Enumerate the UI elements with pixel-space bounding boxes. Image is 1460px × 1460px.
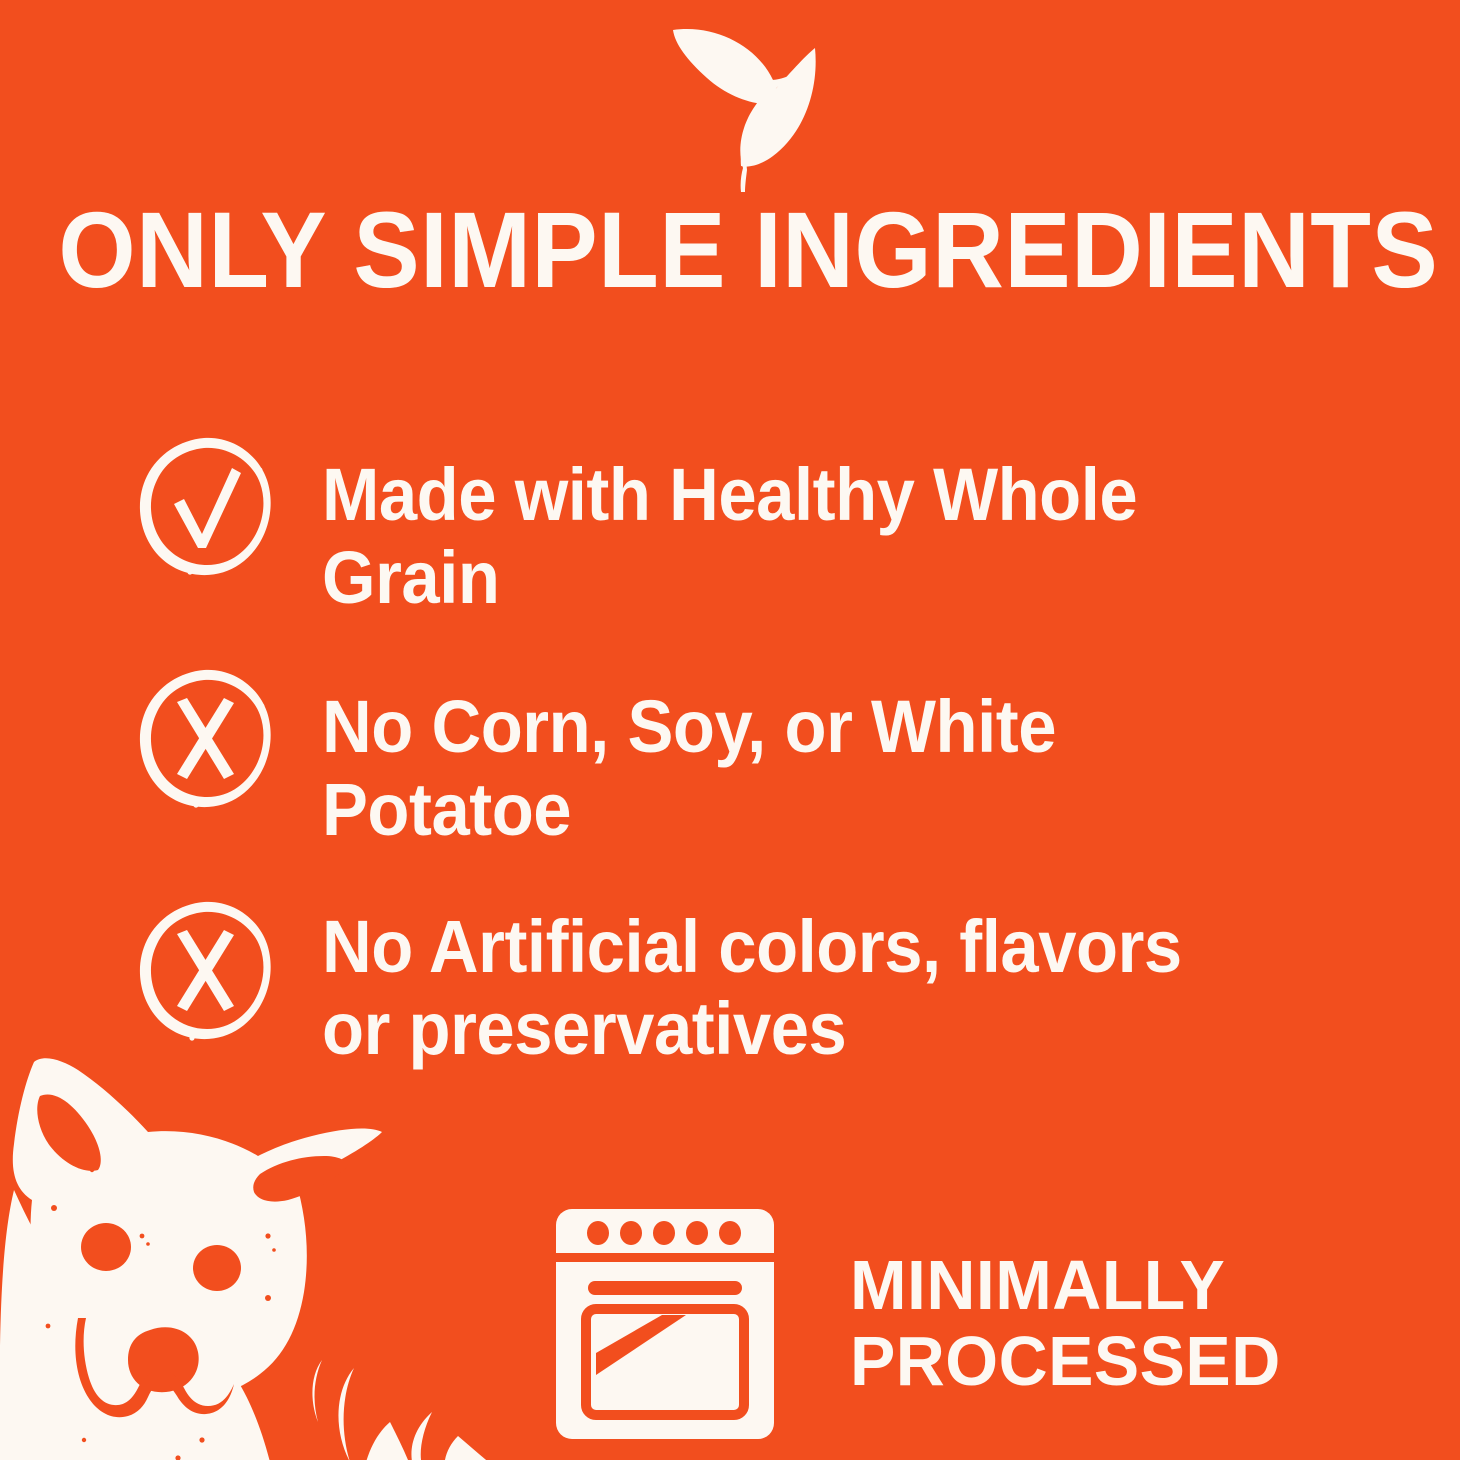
list-item-label: Made with Healthy Whole Grain [322,430,1313,620]
page-title: ONLY SIMPLE INGREDIENTS [58,196,1401,304]
badge-label: MINIMALLY PROCESSED [850,1248,1281,1399]
oven-icon [552,1205,778,1443]
x-circle-icon [128,894,280,1046]
x-circle-icon [128,662,280,814]
minimally-processed-badge: MINIMALLY PROCESSED [552,1205,1294,1443]
leaf-sprout-icon [645,18,860,198]
list-item: Made with Healthy Whole Grain [128,430,1388,620]
check-circle-icon [128,430,280,582]
product-claims-panel: ONLY SIMPLE INGREDIENTS Made with Health… [0,0,1460,1460]
claims-list: Made with Healthy Whole Grain No Corn, S… [128,430,1388,1071]
list-item: No Corn, Soy, or White Potatoe [128,662,1388,852]
dog-illustration [0,1040,512,1460]
list-item-label: No Corn, Soy, or White Potatoe [322,662,1313,852]
